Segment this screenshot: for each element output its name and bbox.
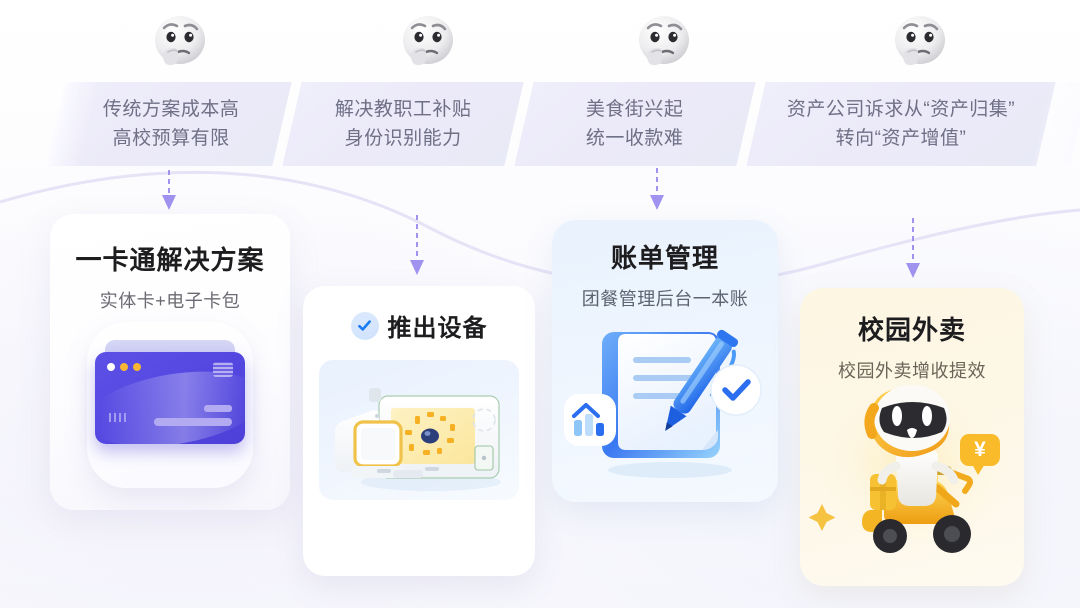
flow-arrow-3	[648, 168, 666, 212]
banner-3-line-1: 美食街兴起	[586, 95, 684, 124]
payment-terminal-illustration	[319, 360, 519, 500]
card1-title: 一卡通解决方案	[50, 240, 290, 277]
card1-subtitle: 实体卡+电子卡包	[50, 287, 290, 313]
card-dots	[107, 363, 141, 371]
card-line-short	[204, 405, 232, 412]
pain-point-banner-4[interactable]: 资产公司诉求从“资产归集” 转向“资产增值”	[746, 82, 1055, 166]
banner-4-line-2: 转向“资产增值”	[787, 124, 1015, 153]
thinking-face-emoji-1	[144, 6, 216, 78]
solution-device-card[interactable]: 推出设备	[303, 286, 535, 576]
card2-title: 推出设备	[388, 308, 488, 343]
solution-campus-delivery-card[interactable]: 校园外卖 校园外卖增收提效	[800, 288, 1024, 586]
card-number-marks	[109, 413, 126, 422]
solution-billing-card[interactable]: 账单管理 团餐管理后台一本账	[552, 220, 778, 502]
card2-header: 推出设备	[303, 308, 535, 343]
banner-1-line-1: 传统方案成本高	[103, 95, 240, 124]
credit-card-illustration	[87, 322, 253, 488]
emoji-row	[0, 0, 1080, 80]
card-chip-icon	[213, 362, 233, 377]
banner-2-line-1: 解决教职工补贴	[335, 95, 472, 124]
flow-arrow-1	[160, 170, 178, 212]
card3-title: 账单管理	[552, 238, 778, 275]
thinking-face-emoji-3	[628, 6, 700, 78]
solution-card-one-card[interactable]: 一卡通解决方案 实体卡+电子卡包	[50, 214, 290, 510]
banner-3-line-2: 统一收款难	[586, 124, 684, 153]
thinking-face-emoji-2	[392, 6, 464, 78]
banner-4-line-1: 资产公司诉求从“资产归集”	[787, 95, 1015, 124]
pain-point-banner-3[interactable]: 美食街兴起 统一收款难	[514, 82, 755, 166]
pain-point-band: 传统方案成本高 高校预算有限 解决教职工补贴 身份识别能力 美食街兴起 统一收款…	[0, 82, 1080, 166]
flow-arrow-2	[408, 215, 426, 277]
card-line-long	[154, 418, 232, 426]
banner-1-line-2: 高校预算有限	[103, 124, 240, 153]
delivery-robot-scooter-illustration: ¥	[800, 374, 1024, 580]
card4-title: 校园外卖	[800, 310, 1024, 347]
thinking-face-emoji-4	[884, 6, 956, 78]
card-front	[95, 352, 245, 444]
document-pen-illustration	[552, 320, 778, 498]
card3-subtitle: 团餐管理后台一本账	[552, 285, 778, 311]
pain-point-banner-2[interactable]: 解决教职工补贴 身份识别能力	[282, 82, 523, 166]
flow-arrow-4	[904, 218, 922, 280]
infographic-stage: 传统方案成本高 高校预算有限 解决教职工补贴 身份识别能力 美食街兴起 统一收款…	[0, 0, 1080, 608]
card2-caption: 卡机和小白盒全能王 （NFC版）	[303, 508, 535, 576]
svg-text:¥: ¥	[974, 438, 986, 461]
check-circle-icon	[351, 312, 379, 340]
banner-2-line-2: 身份识别能力	[335, 124, 472, 153]
